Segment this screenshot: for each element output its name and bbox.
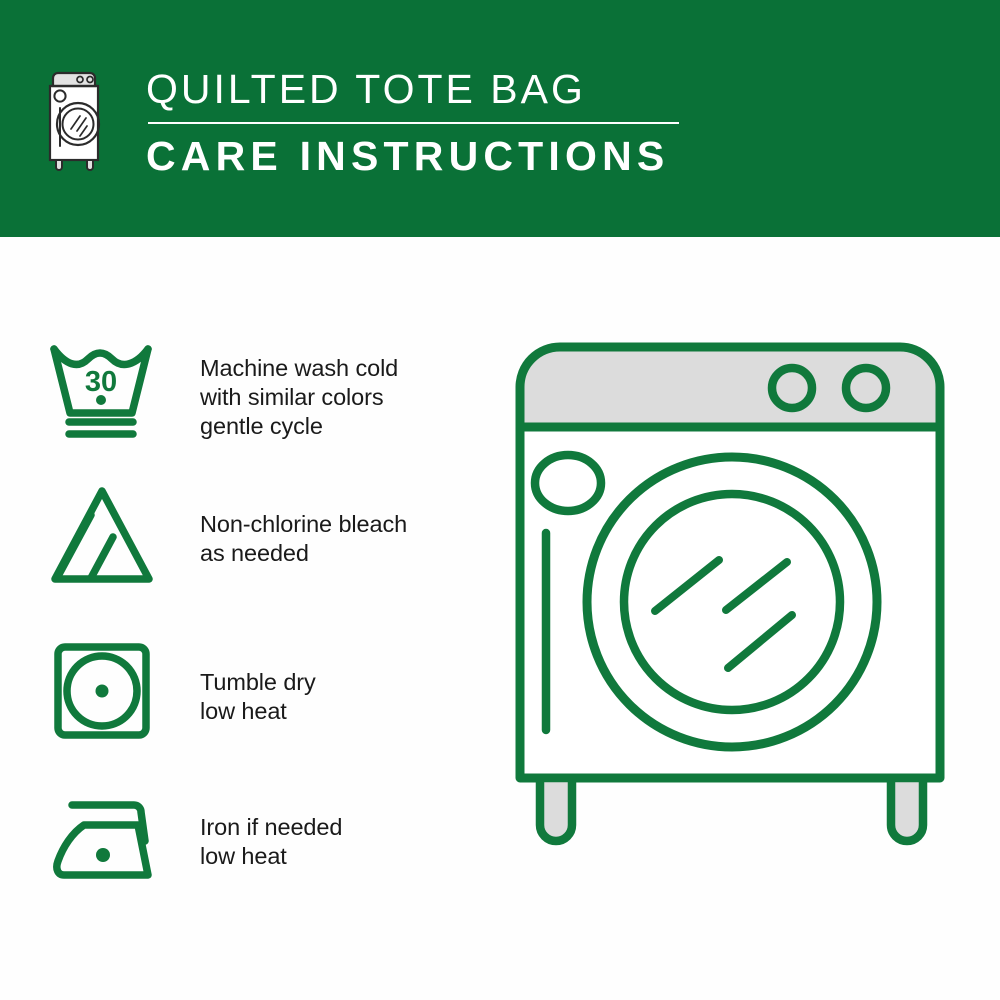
- care-item-text-iron: Iron if needed low heat: [200, 813, 342, 871]
- care-text-line: with similar colors: [200, 383, 398, 412]
- header-band: QUILTED TOTE BAG CARE INSTRUCTIONS: [0, 0, 1000, 237]
- leg-right: [891, 778, 923, 841]
- tumble-dry-low-heat-icon: [52, 641, 164, 745]
- care-text-line: low heat: [200, 842, 342, 871]
- care-text-line: Machine wash cold: [200, 354, 398, 383]
- iron-low-heat-icon: [50, 789, 162, 893]
- care-text-line: Tumble dry: [200, 668, 316, 697]
- care-item-text-machine-wash: Machine wash cold with similar colors ge…: [200, 354, 398, 441]
- care-instructions-infographic: QUILTED TOTE BAG CARE INSTRUCTIONS: [0, 0, 1000, 1000]
- care-item-text-tumble-dry: Tumble dry low heat: [200, 668, 316, 726]
- leg-left: [540, 778, 572, 841]
- non-chlorine-bleach-triangle-icon: [48, 485, 160, 589]
- control-panel: [520, 347, 940, 427]
- wash-dot: [96, 395, 106, 405]
- care-text-line: Iron if needed: [200, 813, 342, 842]
- washing-machine-icon: [44, 68, 106, 172]
- care-item-text-bleach: Non-chlorine bleach as needed: [200, 510, 407, 568]
- page-title: CARE INSTRUCTIONS: [146, 130, 846, 182]
- tumble-dry-heat-dot: [96, 685, 109, 698]
- care-text-line: Non-chlorine bleach: [200, 510, 407, 539]
- front-load-washing-machine-illustration: [495, 330, 965, 930]
- care-text-line: low heat: [200, 697, 316, 726]
- wash-temperature-value: 30: [85, 366, 117, 398]
- header-title-block: QUILTED TOTE BAG CARE INSTRUCTIONS: [146, 62, 846, 182]
- wash-tub-30-gentle-icon: 30: [48, 339, 160, 443]
- iron-heat-dot: [96, 848, 110, 862]
- care-text-line: gentle cycle: [200, 412, 398, 441]
- care-text-line: as needed: [200, 539, 407, 568]
- product-title: QUILTED TOTE BAG: [146, 62, 846, 116]
- title-divider: [148, 122, 679, 124]
